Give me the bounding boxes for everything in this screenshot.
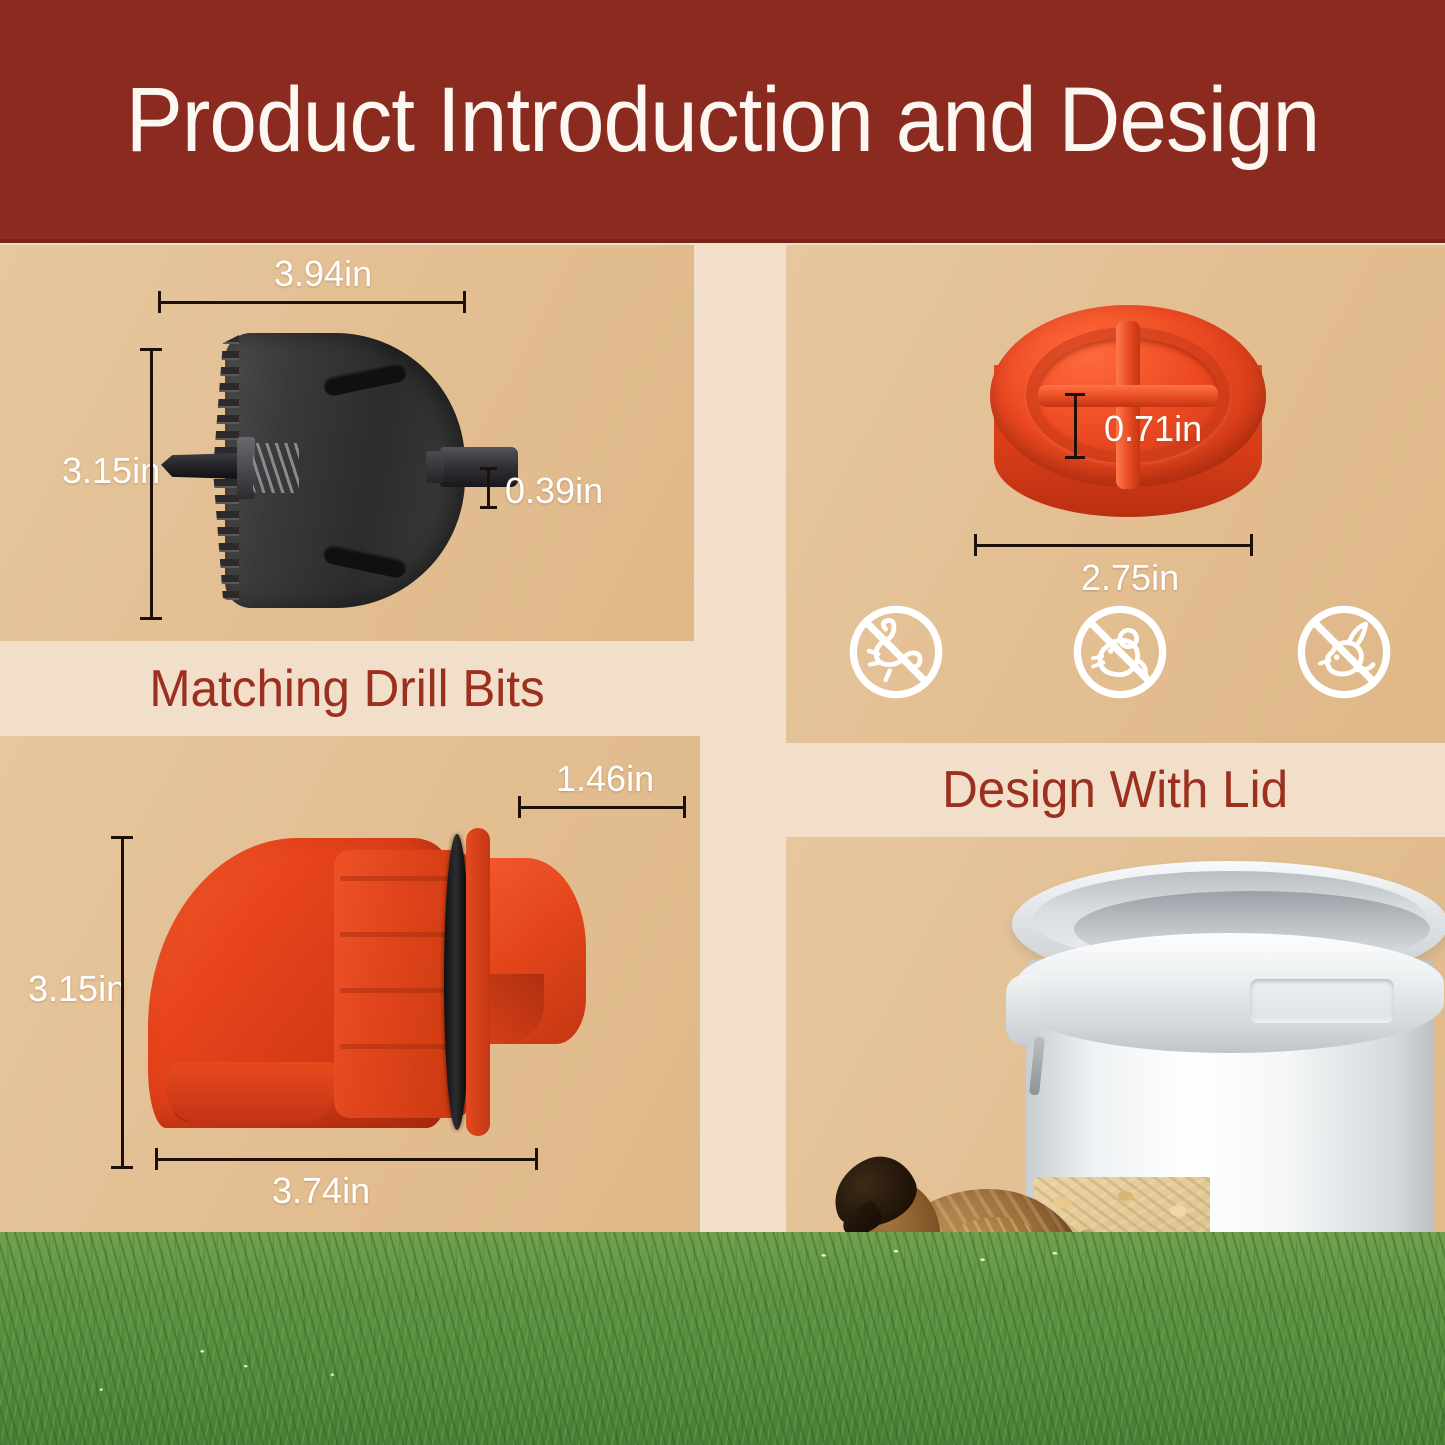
product-infographic: Product Introduction and Design 3.94in 3… [0, 0, 1445, 1445]
dimension-label-port-depth: 1.46in [556, 758, 654, 800]
dimension-label-lid-height: 0.71in [1104, 408, 1202, 450]
dimension-label-drill-height: 3.15in [62, 450, 160, 492]
page-title: Product Introduction and Design [51, 74, 1395, 166]
lid-cross-rib-horizontal [1038, 385, 1218, 407]
dimension-line-lid-diameter [974, 544, 1253, 547]
dimension-cap [1065, 393, 1085, 396]
dimension-line-port-length [155, 1158, 538, 1161]
no-rat-icon [1068, 600, 1172, 704]
drill-bit-caption: Matching Drill Bits [149, 659, 544, 719]
dimension-cap [140, 617, 162, 620]
hole-saw-image [155, 333, 485, 608]
dimension-cap [1250, 534, 1253, 556]
dimension-cap [155, 1148, 158, 1170]
dimension-label-drill-width: 3.94in [274, 253, 372, 295]
feeder-port-panel: 1.46in 3.15in 3.74in [0, 736, 700, 1232]
dimension-cap [111, 836, 133, 839]
dimension-line-port-depth [518, 806, 686, 809]
dimension-cap [480, 467, 497, 470]
bucket-handle-lug [1006, 975, 1040, 1045]
dimension-cap [111, 1166, 133, 1169]
dimension-cap [683, 796, 686, 818]
no-bird-icon [1292, 600, 1396, 704]
dimension-label-drill-shank: 0.39in [505, 470, 603, 512]
dimension-line-port-height [121, 836, 124, 1168]
dimension-label-lid-diameter: 2.75in [1081, 557, 1179, 599]
dimension-line-drill-width [158, 301, 466, 304]
dimension-cap [158, 291, 161, 313]
dimension-cap [1065, 456, 1085, 459]
dimension-label-port-height: 3.15in [28, 968, 126, 1010]
dimension-cap [974, 534, 977, 556]
feeder-port-lip [166, 1062, 334, 1124]
lid-caption-band: Design With Lid [786, 743, 1445, 837]
drill-bit-panel: 3.94in 3.15in 0.39in [0, 245, 694, 641]
dimension-line-drill-shank [487, 467, 490, 509]
dimension-cap [535, 1148, 538, 1170]
dimension-cap [463, 291, 466, 313]
dimension-line-lid-height [1074, 393, 1077, 459]
feeder-port-flange [466, 828, 490, 1136]
dimension-cap [480, 506, 497, 509]
pilot-drill-bit [161, 453, 241, 479]
grass-ground [0, 1232, 1445, 1445]
pilot-spring [253, 443, 299, 493]
drill-bit-caption-band: Matching Drill Bits [0, 641, 694, 736]
bucket-grip [1250, 979, 1394, 1023]
no-lizard-icon [844, 600, 948, 704]
lid-panel: 0.71in 2.75in [786, 245, 1445, 743]
feeder-port-image [148, 824, 578, 1144]
dimension-label-port-length: 3.74in [272, 1170, 370, 1212]
feeder-port-thread [340, 876, 464, 881]
feeder-port-tail [478, 858, 586, 1044]
dimension-cap [518, 796, 521, 818]
dimension-line-drill-height [150, 348, 153, 619]
dimension-cap [140, 348, 162, 351]
pest-proof-icon-row [830, 600, 1410, 710]
header-banner: Product Introduction and Design [0, 0, 1445, 243]
lid-caption: Design With Lid [943, 760, 1289, 820]
